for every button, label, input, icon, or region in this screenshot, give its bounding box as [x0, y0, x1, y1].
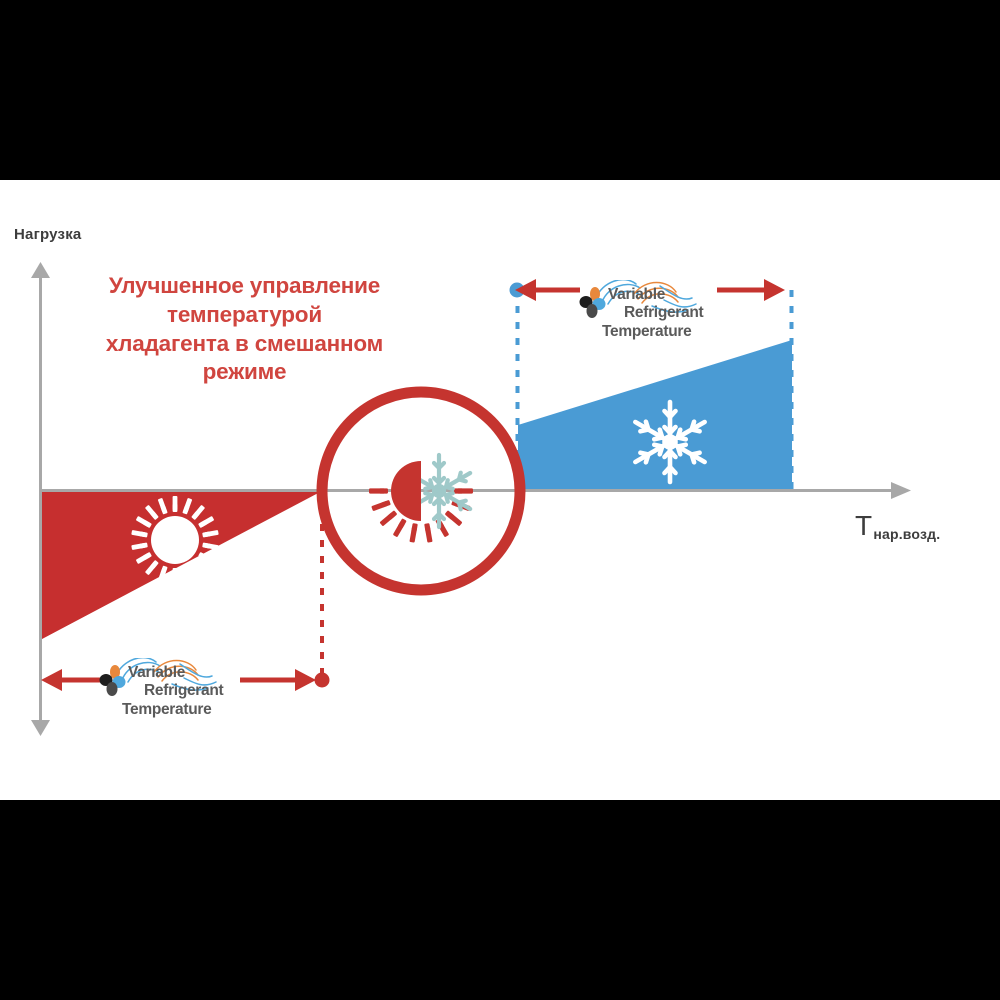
- title-line-3: хладагента в смешанном: [62, 330, 427, 359]
- vrt-line-2: Refrigerant: [122, 682, 267, 700]
- x-axis-label-main: T: [855, 510, 872, 542]
- cooling-region: [518, 340, 792, 490]
- vrt-line-2: Refrigerant: [602, 304, 747, 322]
- page-title: Улучшенное управление температурой хлада…: [62, 272, 427, 387]
- vrt-logo-text: Variable Refrigerant Temperature: [122, 664, 267, 719]
- title-line-4: режиме: [62, 358, 427, 387]
- y-axis-label: Нагрузка: [14, 226, 81, 243]
- vrt-line-1: Variable: [602, 286, 747, 304]
- vrt-line-3: Temperature: [122, 701, 267, 719]
- vrt-logo-cooling: Variable Refrigerant Temperature: [572, 280, 747, 354]
- vrt-line-1: Variable: [122, 664, 267, 682]
- title-line-1: Улучшенное управление: [62, 272, 427, 301]
- heating-region-shape: [40, 490, 322, 640]
- vrt-logo-text: Variable Refrigerant Temperature: [602, 286, 747, 341]
- vrt-line-3: Temperature: [602, 323, 747, 341]
- x-axis-label: Tнар.возд.: [855, 510, 940, 542]
- vrt-logo-heating: Variable Refrigerant Temperature: [92, 658, 267, 732]
- x-axis-label-sub: нар.возд.: [873, 526, 940, 542]
- title-line-2: температурой: [62, 301, 427, 330]
- diagram-canvas: Нагрузка Tнар.возд. Улучшенное управлени…: [0, 180, 1000, 800]
- screenshot-stage: Нагрузка Tнар.возд. Улучшенное управлени…: [0, 0, 1000, 1000]
